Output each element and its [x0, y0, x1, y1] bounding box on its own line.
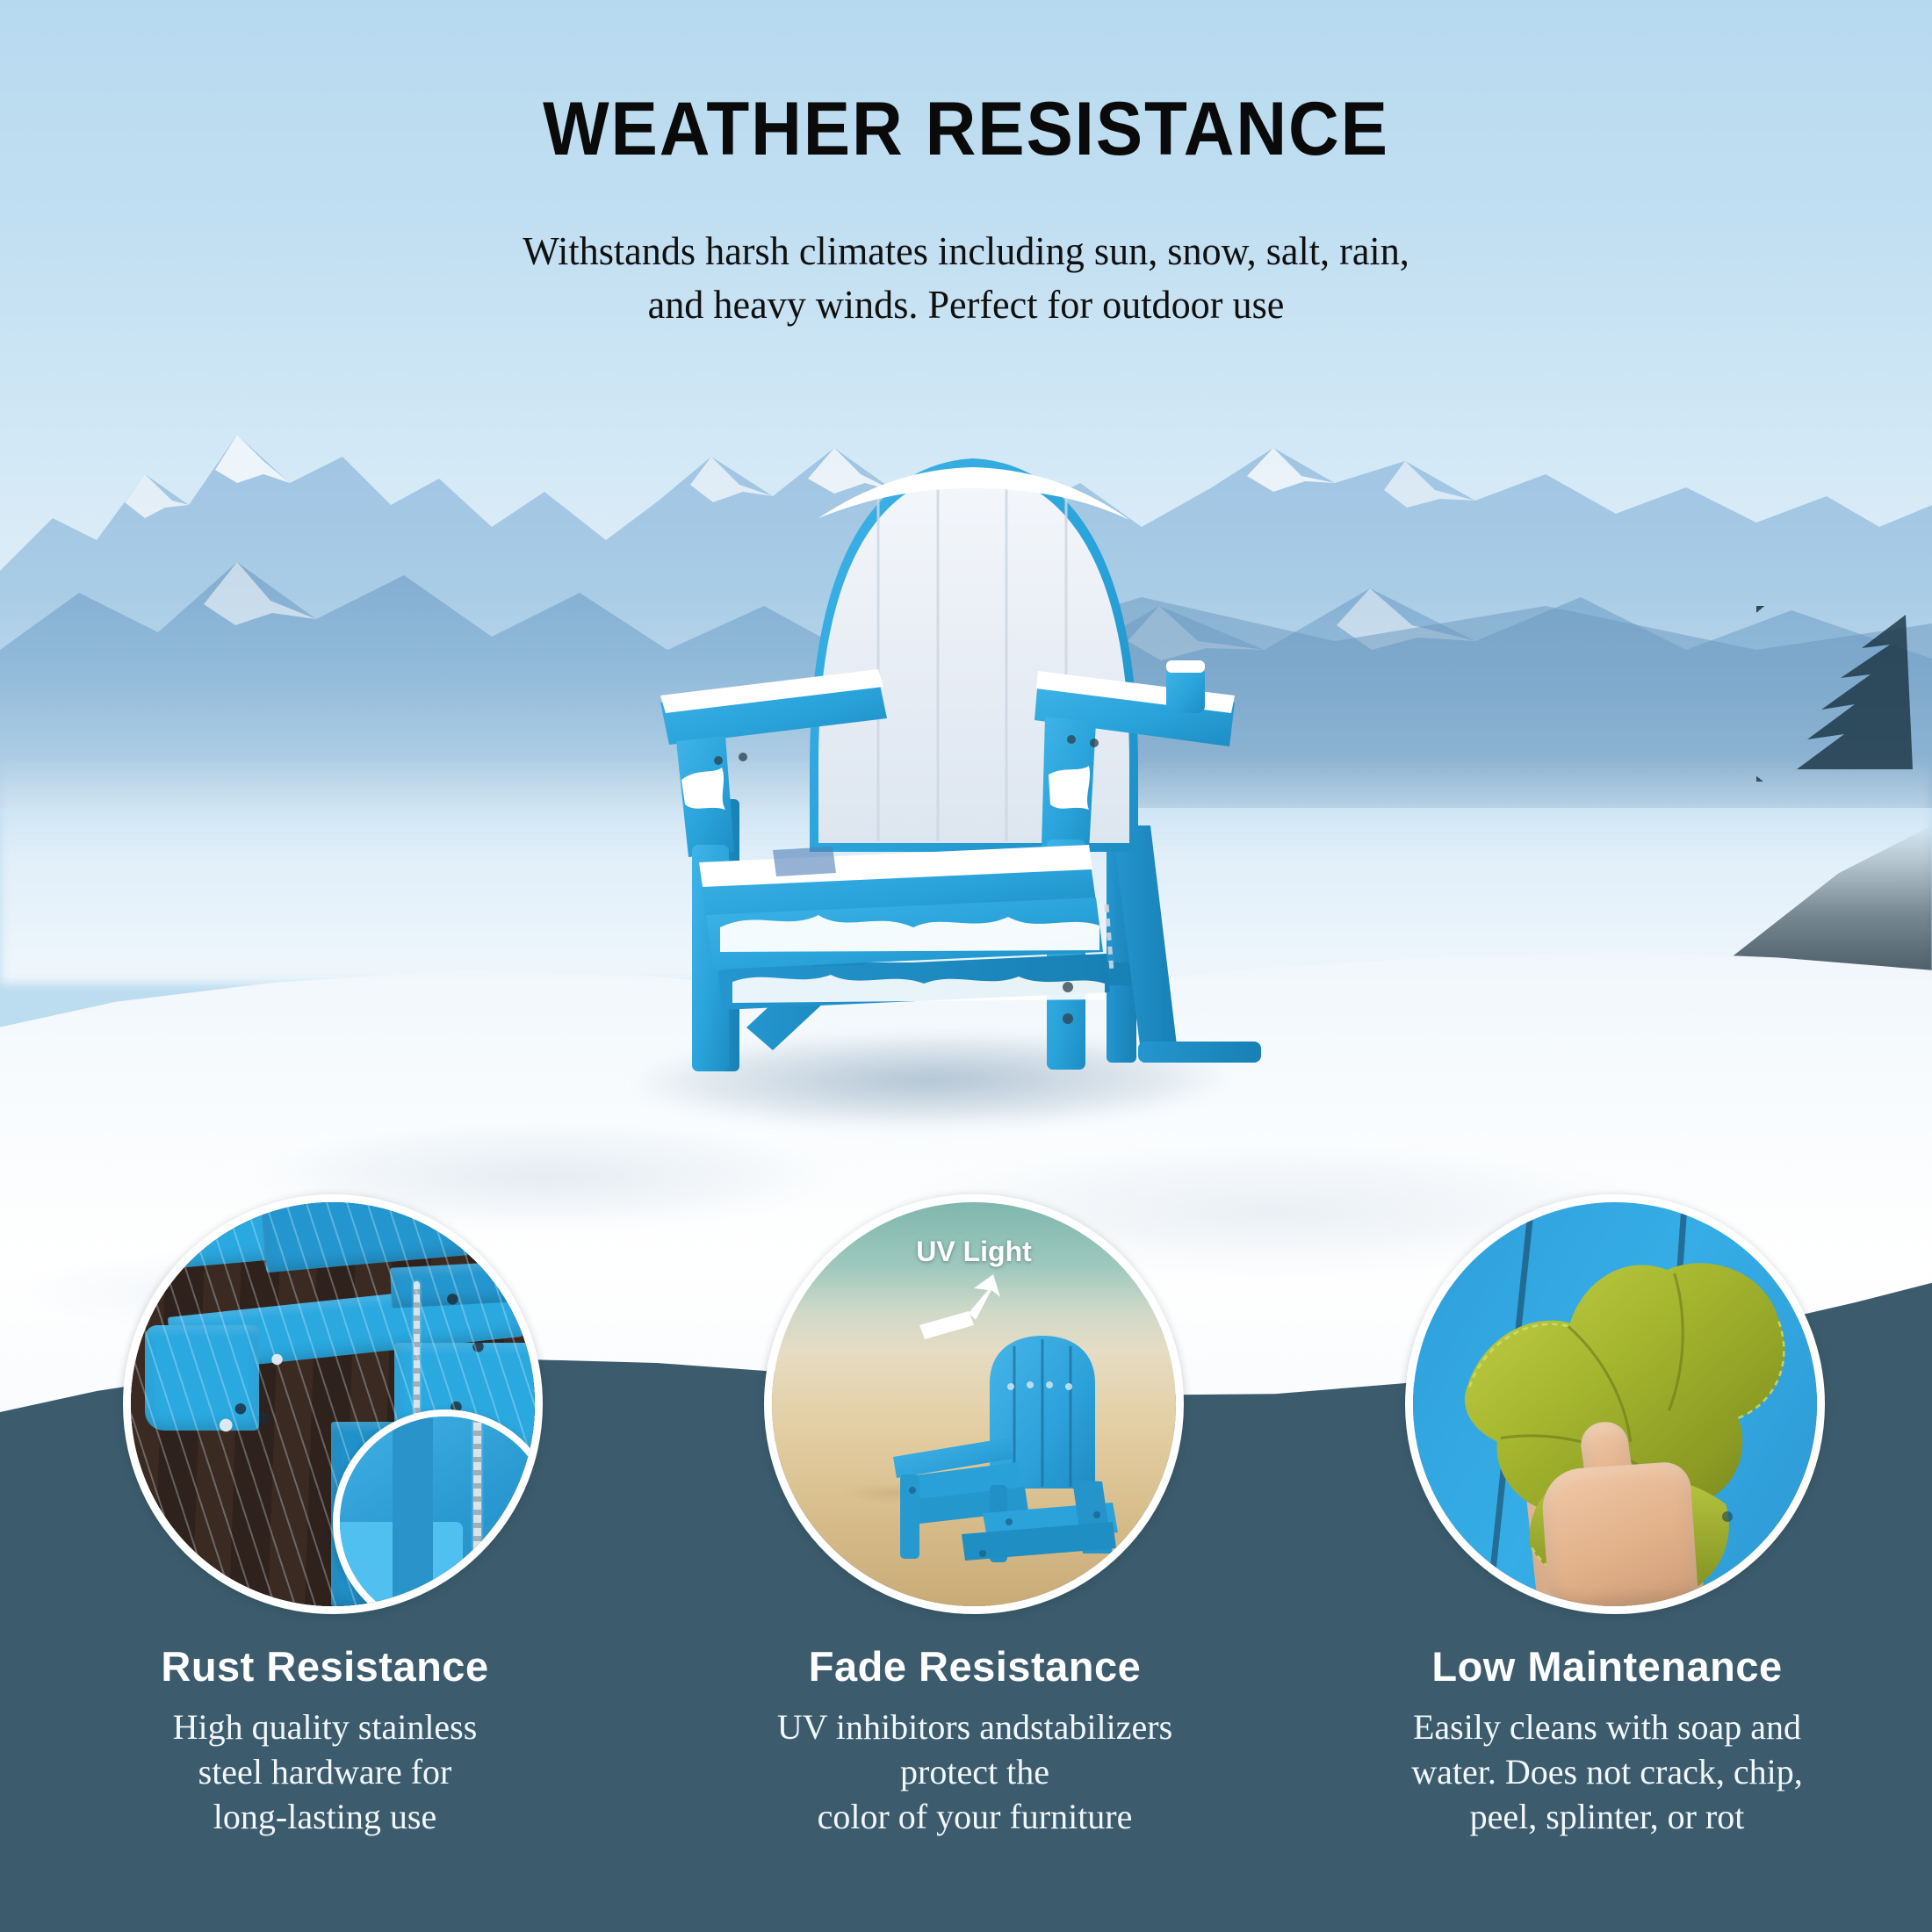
feature-body-line: color of your furniture [746, 1794, 1203, 1839]
feature-image-fade-resistance: UV Light [764, 1194, 1184, 1614]
feature-heading-rust: Rust Resistance [97, 1642, 553, 1690]
feature-body-line: steel hardware for [97, 1749, 553, 1794]
uv-light-label: UV Light [916, 1236, 1032, 1268]
subtitle-line-1: Withstands harsh climates including sun,… [39, 225, 1893, 278]
feature-text-rust-resistance: Rust Resistance High quality stainless s… [97, 1642, 553, 1840]
feature-body-line: High quality stainless [97, 1705, 553, 1749]
feature-body-line: long-lasting use [97, 1794, 553, 1839]
feature-body-line: UV inhibitors andstabilizers [746, 1705, 1203, 1749]
feature-body-fade: UV inhibitors andstabilizers protect the… [746, 1705, 1203, 1840]
feature-text-fade-resistance: Fade Resistance UV inhibitors andstabili… [746, 1642, 1203, 1840]
uv-light-arrow-icon [919, 1274, 1025, 1353]
feature-heading-fade: Fade Resistance [746, 1642, 1203, 1690]
feature-image-low-maintenance [1405, 1194, 1825, 1614]
page-subtitle: Withstands harsh climates including sun,… [39, 225, 1893, 331]
magnified-chain-inset [333, 1409, 543, 1614]
feature-body-line: water. Does not crack, chip, [1379, 1749, 1835, 1794]
feature-body-low-maintenance: Easily cleans with soap and water. Does … [1379, 1705, 1835, 1840]
feature-body-line: protect the [746, 1749, 1203, 1794]
feature-heading-low-maintenance: Low Maintenance [1379, 1642, 1835, 1690]
feature-image-rust-resistance [123, 1194, 543, 1614]
infographic-canvas: WEATHER RESISTANCE Withstands harsh clim… [0, 0, 1932, 1932]
page-title: WEATHER RESISTANCE [68, 91, 1864, 167]
feature-body-rust: High quality stainless steel hardware fo… [97, 1705, 553, 1840]
hero-snow-covered-chair [615, 413, 1335, 1115]
subtitle-line-2: and heavy winds. Perfect for outdoor use [39, 278, 1893, 332]
fir-branch-icon [1756, 606, 1914, 782]
feature-text-low-maintenance: Low Maintenance Easily cleans with soap … [1379, 1642, 1835, 1840]
feature-body-line: Easily cleans with soap and [1379, 1705, 1835, 1749]
feature-body-line: peel, splinter, or rot [1379, 1794, 1835, 1839]
dirt-speck [1722, 1511, 1733, 1522]
